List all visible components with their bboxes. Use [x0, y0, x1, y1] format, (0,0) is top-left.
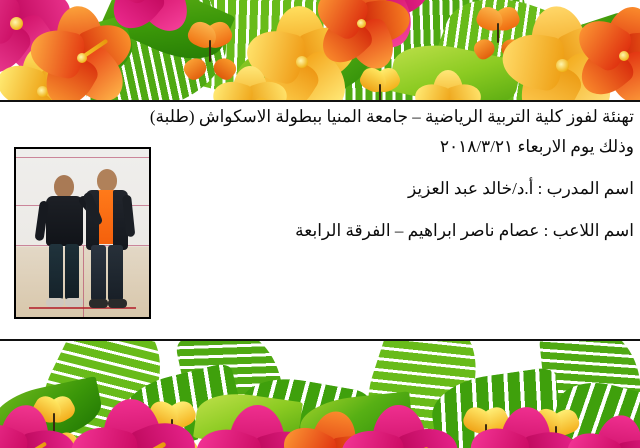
coach-line: اسم المدرب : أ.د/خالد عبد العزيز [408, 180, 634, 197]
document-page: تهنئة لفوز كلية التربية الرياضية – جامعة… [0, 0, 640, 448]
bottom-floral-banner [0, 341, 640, 448]
headline-line-2-date: وذلك يوم الاربعاء ٢٠١٨/٣/٢١ [440, 138, 634, 155]
person-coach [40, 175, 88, 311]
bottom-banner-foliage [0, 341, 640, 448]
player-line: اسم اللاعب : عصام ناصر ابراهيم – الفرقة … [295, 222, 634, 239]
document-body: تهنئة لفوز كلية التربية الرياضية – جامعة… [0, 102, 640, 339]
top-banner-foliage [0, 0, 640, 101]
person-player [82, 169, 132, 311]
top-floral-banner [0, 0, 640, 101]
team-photo [14, 147, 151, 319]
headline-line-1: تهنئة لفوز كلية التربية الرياضية – جامعة… [150, 108, 634, 125]
